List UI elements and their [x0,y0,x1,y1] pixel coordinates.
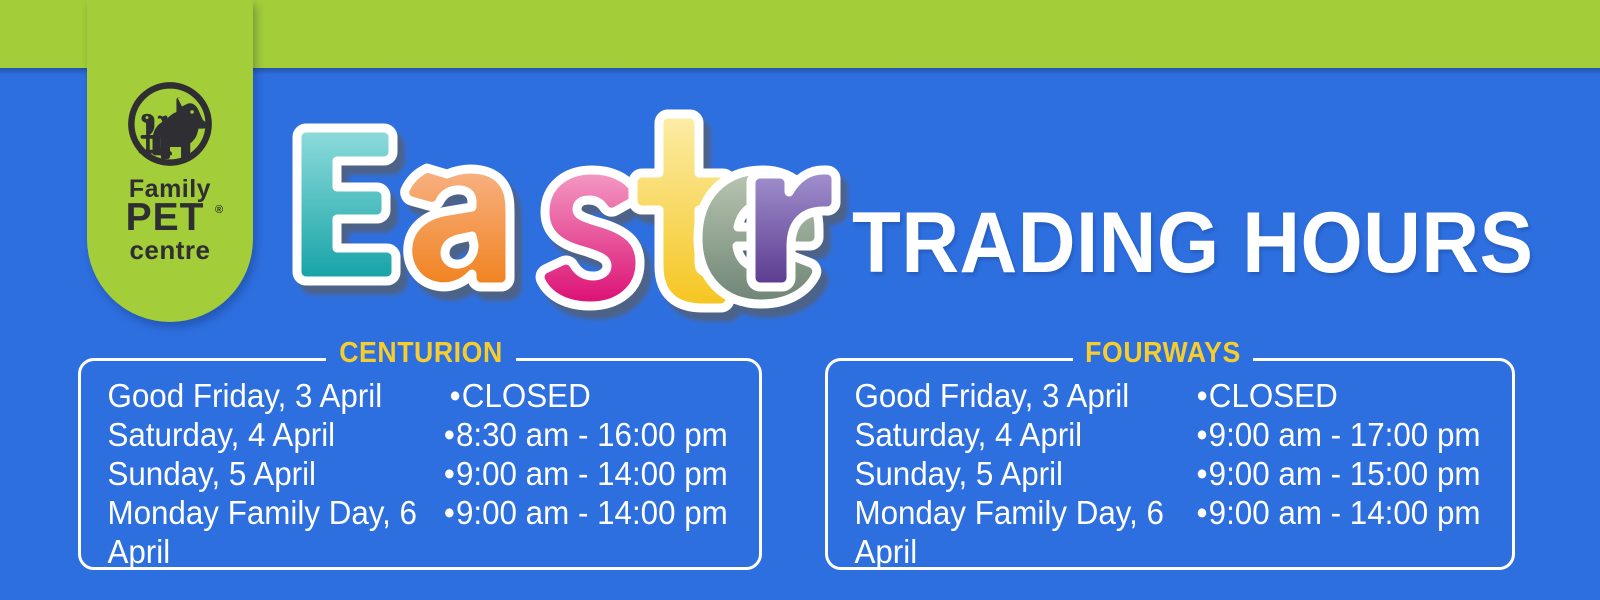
easter-wordmark [292,104,822,319]
hours-day: Good Friday, 3 April [78,376,449,415]
hours-time: 9:00 am - 14:00 pm [1209,493,1481,532]
hours-time: CLOSED [1209,376,1338,415]
hours-list-fourways: Good Friday, 3 April • CLOSED Saturday, … [825,376,1515,532]
logo-wordmark: Family PET ® centre [107,175,233,267]
hours-list-centurion: Good Friday, 3 April • CLOSED Saturday, … [78,376,762,532]
hours-row: Good Friday, 3 April • CLOSED [78,376,728,415]
hours-time: 9:00 am - 14:00 pm [456,493,728,532]
hours-time: 9:00 am - 15:00 pm [1209,454,1481,493]
easter-letter-E [297,128,396,281]
logo-lockup: Family PET ® centre [87,78,253,267]
hours-day: Monday Family Day, 6 April [78,493,443,571]
bullet-icon: • [1195,415,1208,454]
hours-row: Sunday, 5 April • 9:00 am - 15:00 pm [825,454,1481,493]
easter-letter-s [540,170,640,306]
hours-time: 9:00 am - 17:00 pm [1209,415,1481,454]
bullet-icon: • [1195,493,1208,532]
page-title: TRADING HOURS [852,196,1533,290]
brand-logo-tab: Family PET ® centre [87,0,253,322]
family-pet-centre-circle-icon [124,78,216,170]
hours-row: Saturday, 4 April • 9:00 am - 17:00 pm [825,415,1481,454]
hours-row: Monday Family Day, 6 April • 9:00 am - 1… [78,493,728,532]
logo-line-pet: PET [126,196,205,239]
hours-day: Sunday, 5 April [78,454,443,493]
bullet-icon: • [1196,376,1209,415]
hours-row: Saturday, 4 April • 8:30 am - 16:00 pm [78,415,728,454]
easter-trading-hours-banner: Family PET ® centre [0,0,1600,600]
hours-row: Monday Family Day, 6 April • 9:00 am - 1… [825,493,1481,532]
store-panel-centurion: CENTURION Good Friday, 3 April • CLOSED … [78,358,762,570]
store-panel-fourways: FOURWAYS Good Friday, 3 April • CLOSED S… [825,358,1515,570]
hours-time: CLOSED [462,376,591,415]
panel-title-fourways: FOURWAYS [1080,336,1246,370]
easter-letter-a [405,168,510,287]
bullet-icon: • [443,415,456,454]
registered-trademark-icon: ® [215,204,223,216]
hours-day: Saturday, 4 April [78,415,443,454]
hours-row: Sunday, 5 April • 9:00 am - 14:00 pm [78,454,728,493]
hours-time: 8:30 am - 16:00 pm [456,415,728,454]
bullet-icon: • [443,493,456,532]
hours-day: Sunday, 5 April [825,454,1195,493]
hours-time: 9:00 am - 14:00 pm [456,454,728,493]
hours-day: Monday Family Day, 6 April [825,493,1195,571]
easter-wordmark-svg [292,104,822,319]
hours-row: Good Friday, 3 April • CLOSED [825,376,1481,415]
bullet-icon: • [1195,454,1208,493]
bullet-icon: • [443,454,456,493]
hours-day: Saturday, 4 April [825,415,1195,454]
logo-line-centre: centre [129,235,210,265]
panel-title-centurion: CENTURION [334,336,509,370]
hours-day: Good Friday, 3 April [825,376,1196,415]
bullet-icon: • [449,376,462,415]
